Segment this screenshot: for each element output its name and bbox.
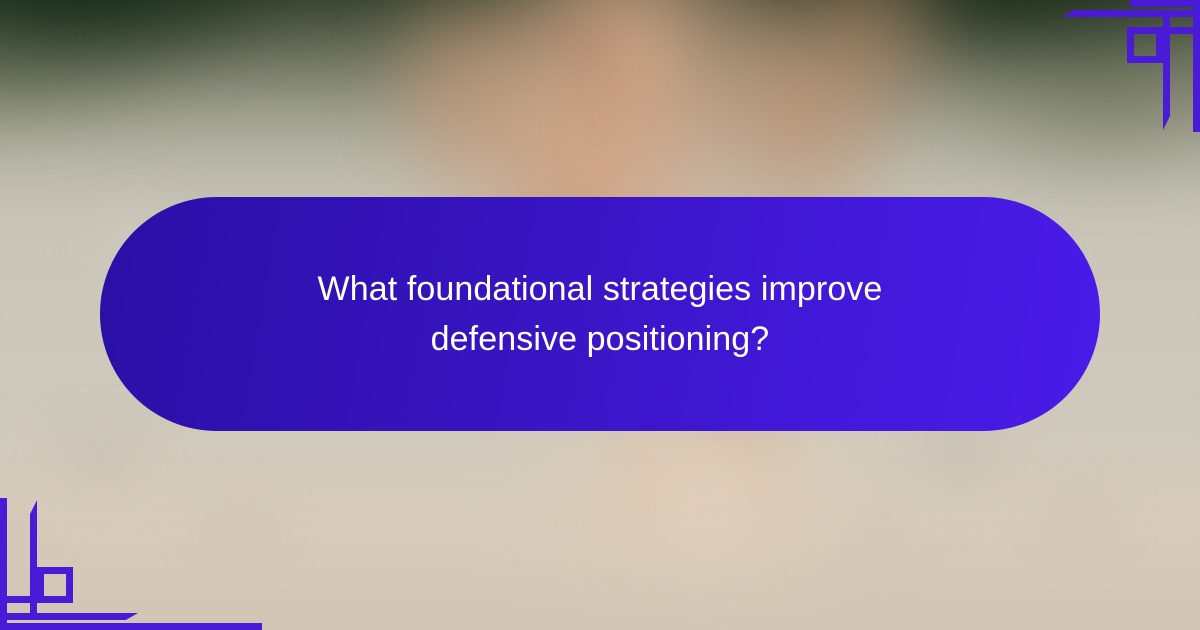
corner-bracket-top-right <box>1020 0 1200 150</box>
bracket-horizontal-line-icon <box>0 613 138 620</box>
question-text: What foundational strategies improve def… <box>260 264 940 365</box>
bracket-square-arm-icon <box>1163 27 1200 34</box>
bracket-square-arm-icon <box>0 596 37 603</box>
bracket-horizontal-line-icon <box>1062 10 1200 17</box>
bracket-square-icon <box>1127 27 1163 63</box>
bracket-square-icon <box>37 567 73 603</box>
share-card-stage: What foundational strategies improve def… <box>0 0 1200 630</box>
question-card: What foundational strategies improve def… <box>100 197 1100 431</box>
corner-bracket-bottom-left <box>0 480 180 630</box>
